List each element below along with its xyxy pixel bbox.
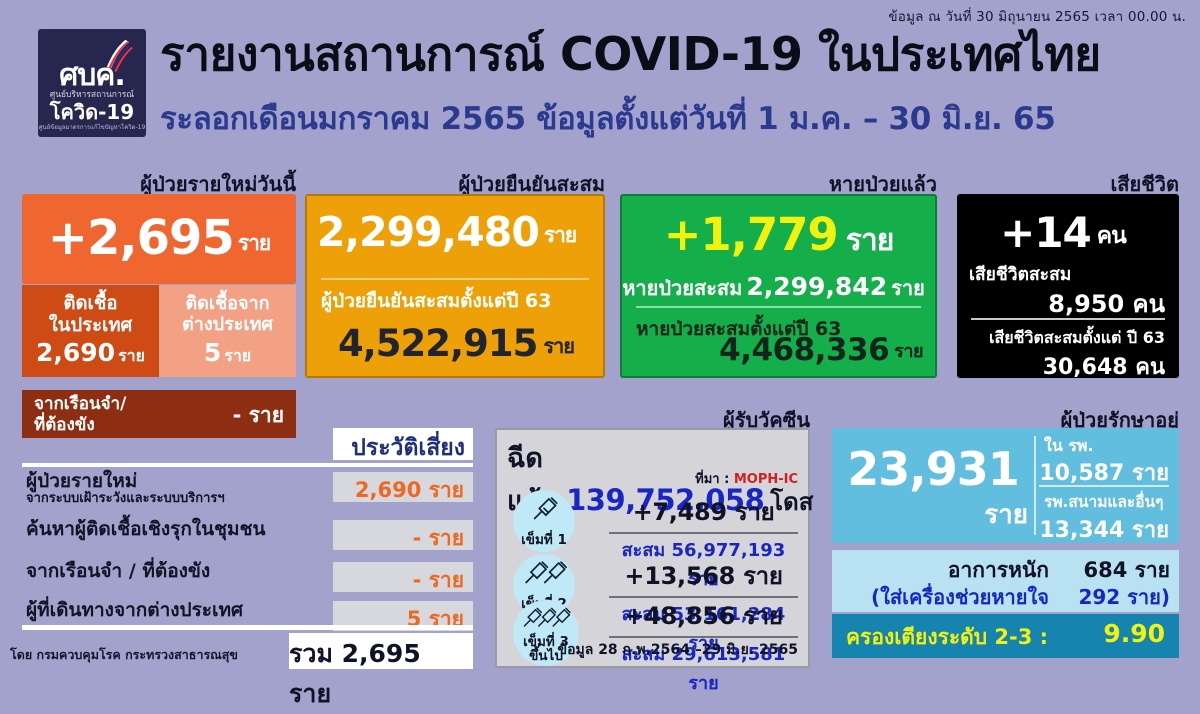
risk-row-label: จากเรือนจำ / ที่ต้องขัง xyxy=(26,562,210,582)
syringe-icon xyxy=(513,557,575,591)
risk-row-value-pill: - ราย xyxy=(333,562,473,592)
vaccine-source: ที่มา : MOPH-IC xyxy=(695,468,798,489)
bed-occupancy-label: ครองเตียงระดับ 2-3 : xyxy=(846,621,1048,654)
divider xyxy=(609,636,798,638)
treating-field-value: 13,344 ราย xyxy=(1039,512,1169,547)
deaths-card: +14คน เสียชีวิตสะสม 8,950 คน เสียชีวิตสะ… xyxy=(957,194,1179,378)
page-title: รายงานสถานการณ์ COVID-19 ในประเทศไทย xyxy=(160,30,1101,80)
treating-value: 23,931 xyxy=(838,442,1028,496)
recovered-accum: หายป่วยสะสม2,299,842ราย xyxy=(622,272,925,304)
risk-history-heading-label: ประวัติเสี่ยง xyxy=(351,430,465,466)
dashboard-root: ข้อมูล ณ วันที่ 30 มิถุนายน 2565 เวลา 00… xyxy=(0,0,1200,675)
imported-cases-cell: ติดเชื้อจากต่างประเทศ 5ราย xyxy=(159,285,296,377)
divider xyxy=(971,318,1165,320)
deaths-since63-label: เสียชีวิตสะสมตั้งแต่ ปี 63 xyxy=(957,326,1165,351)
domestic-cases-cell: ติดเชื้อในประเทศ 2,690ราย xyxy=(22,285,159,377)
cumulative-value: 2,299,480ราย xyxy=(317,208,593,256)
recovered-since63-value: 4,468,336ราย xyxy=(719,332,923,368)
imported-cases-value: 5ราย xyxy=(159,338,296,369)
cumulative-since63-value: 4,522,915ราย xyxy=(321,322,591,365)
risk-total: รวม 2,695 ราย xyxy=(289,633,473,669)
logo-line-4: ศูนย์ข้อมูลมาตรการแก้ไขปัญหาโควิด-19 xyxy=(38,125,146,131)
logo-line-3: โควิด-19 xyxy=(38,102,146,122)
new-cases-card: +2,695ราย xyxy=(22,194,296,284)
cumulative-since63-label: ผู้ป่วยยืนยันสะสมตั้งแต่ปี 63 xyxy=(321,286,551,316)
prison-cases-cell: จากเรือนจำ/ที่ต้องขัง - ราย xyxy=(22,390,296,438)
dose-1-new: +7,489 ราย xyxy=(609,492,798,531)
imported-cases-label: ติดเชื้อจากต่างประเทศ xyxy=(159,293,296,335)
severe-cases-card: อาการหนัก 684 ราย (ใส่เครื่องช่วยหายใจ 2… xyxy=(832,550,1179,612)
logo-line-2: ศูนย์บริหารสถานการณ์ xyxy=(38,91,146,100)
ccsa-logo: ศบค. ศูนย์บริหารสถานการณ์ โควิด-19 ศูนย์… xyxy=(38,29,146,137)
bed-occupancy-card: ครองเตียงระดับ 2-3 : 9.90 xyxy=(832,614,1179,658)
credit-text: โดย กรมควบคุมโรค กระทรวงสาธารณสุข xyxy=(10,645,238,665)
risk-row-value-pill: 2,690 ราย xyxy=(333,472,473,502)
treating-field-label: รพ.สนามและอื่นๆ xyxy=(1044,489,1163,514)
risk-row: จากเรือนจำ / ที่ต้องขัง - ราย xyxy=(22,562,473,595)
risk-row-label: ผู้ป่วยรายใหม่ จากระบบเฝ้าระวังและระบบบร… xyxy=(26,472,225,506)
page-subtitle: ระลอกเดือนมกราคม 2565 ข้อมูลตั้งแต่วันที… xyxy=(160,103,1056,136)
treating-unit: ราย xyxy=(838,494,1028,535)
domestic-cases-label: ติดเชื้อในประเทศ xyxy=(22,293,159,337)
risk-row: ผู้ป่วยรายใหม่ จากระบบเฝ้าระวังและระบบบร… xyxy=(22,472,473,505)
dose-1-label: เข็มที่ 1 xyxy=(513,534,575,548)
deaths-value: +14คน xyxy=(957,208,1169,257)
risk-row-label: ค้นหาผู้ติดเชื้อเชิงรุกในชุมชน xyxy=(26,520,265,540)
dose-1-badge: เข็มที่ 1 xyxy=(513,490,575,552)
risk-total-label: รวม 2,695 ราย xyxy=(289,634,464,714)
vaccine-date-note: ข้อมูล 28 ก.พ.2564 –29 มิ.ย. 2565 xyxy=(558,639,798,661)
recovered-card: +1,779ราย หายป่วยสะสม2,299,842ราย หายป่ว… xyxy=(620,194,937,378)
divider xyxy=(1039,485,1169,487)
treating-card: 23,931 ราย ใน รพ. 10,587 ราย รพ.สนามและอ… xyxy=(832,428,1179,543)
recovered-value: +1,779ราย xyxy=(622,208,935,264)
divider xyxy=(609,532,798,534)
as-of-date: ข้อมูล ณ วันที่ 30 มิถุนายน 2565 เวลา 00… xyxy=(888,5,1186,27)
logo-line-1: ศบค. xyxy=(38,61,146,91)
prison-cases-value: - ราย xyxy=(233,399,284,432)
prison-cases-label: จากเรือนจำ/ที่ต้องขัง xyxy=(34,394,126,435)
risk-row: ค้นหาผู้ติดเชื้อเชิงรุกในชุมชน - ราย xyxy=(22,520,473,553)
divider xyxy=(22,463,473,467)
dose-3-new: +48,856 ราย xyxy=(609,596,798,635)
risk-row-label: ผู้ที่เดินทางจากต่างประเทศ xyxy=(26,601,243,621)
divider xyxy=(636,306,921,308)
dose-2-new: +13,568 ราย xyxy=(609,556,798,595)
bed-occupancy-value: 9.90 xyxy=(1103,619,1165,648)
syringe-icon xyxy=(513,602,579,634)
risk-history-heading: ประวัติเสี่ยง xyxy=(333,428,473,460)
deaths-since63-value: 30,648 คน xyxy=(957,349,1165,378)
syringe-icon xyxy=(513,493,575,527)
new-cases-value: +2,695ราย xyxy=(22,210,296,266)
risk-row-value-pill: - ราย xyxy=(333,520,473,550)
divider xyxy=(321,278,589,280)
divider xyxy=(22,625,473,630)
ventilator-value: 292 ราย) xyxy=(1078,581,1170,613)
domestic-cases-value: 2,690ราย xyxy=(22,338,159,369)
ventilator-label: (ใส่เครื่องช่วยหายใจ xyxy=(871,581,1049,613)
vaccine-panel: ฉีดแล้ว139,752,058โดส ที่มา : MOPH-IC เข… xyxy=(495,428,810,668)
cumulative-cases-card: 2,299,480ราย ผู้ป่วยยืนยันสะสมตั้งแต่ปี … xyxy=(305,194,605,378)
divider xyxy=(1034,436,1036,535)
